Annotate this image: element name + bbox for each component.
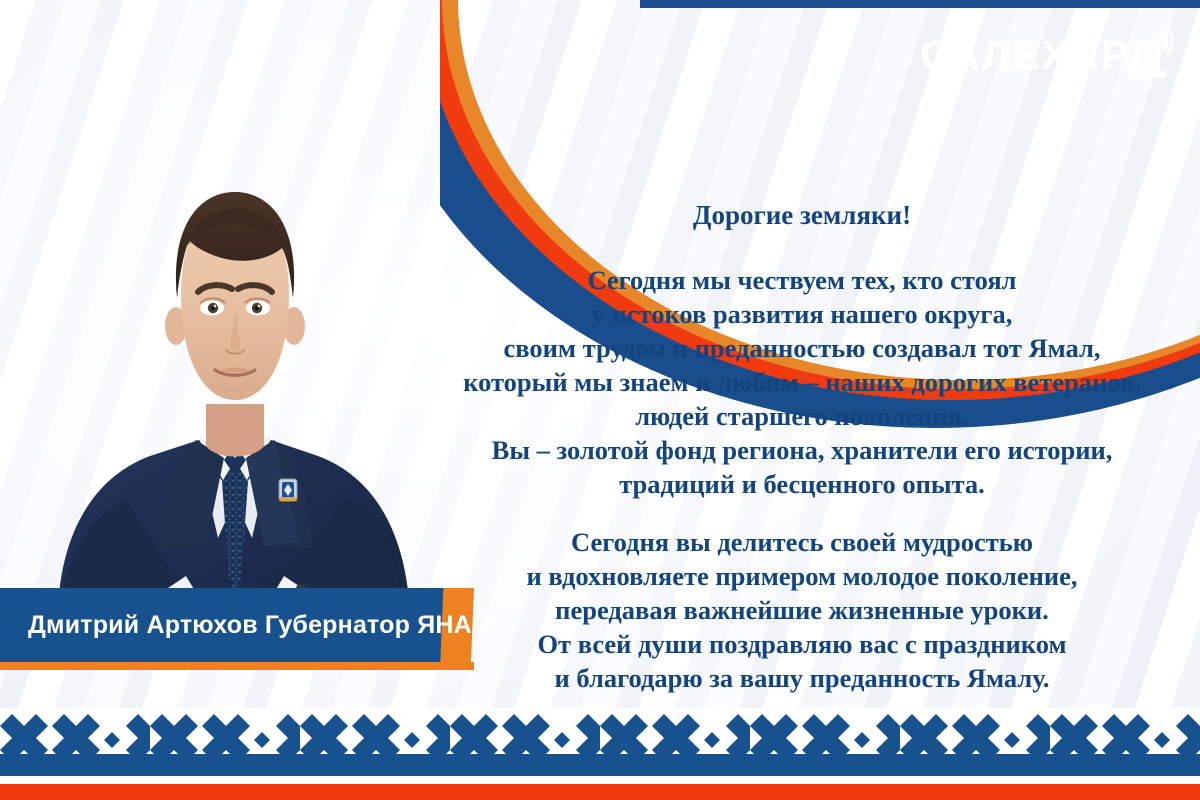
message-line: своим трудом и преданностью создавал тот…: [412, 331, 1192, 365]
name-banner: Дмитрий Артюхов Губернатор ЯНАО: [0, 588, 492, 670]
message-line: людей старшего поколения.: [412, 399, 1192, 433]
logo-wordmark: САЛЕХАРД: [920, 35, 1158, 76]
message-line: и благодарю за вашу преданность Ямалу.: [412, 661, 1192, 695]
message-paragraph-2: Сегодня вы делитесь своей мудростью и вд…: [412, 525, 1192, 695]
salekhard-logo[interactable]: САЛЕХАРД: [920, 26, 1174, 76]
greeting-message: Дорогие земляки! Сегодня мы чествуем тех…: [412, 198, 1192, 695]
message-line: Сегодня вы делитесь своей мудростью: [412, 525, 1192, 559]
governor-name-title: Дмитрий Артюхов Губернатор ЯНАО: [28, 588, 491, 662]
message-line: у истоков развития нашего округа,: [412, 297, 1192, 331]
message-greeting: Дорогие земляки!: [412, 198, 1192, 233]
message-line: традиций и бесценного опыта.: [412, 467, 1192, 501]
nenets-ornament-pattern: [0, 708, 1200, 770]
message-line: От всей души поздравляю вас с праздником: [412, 627, 1192, 661]
message-line: Вы – золотой фонд региона, хранители его…: [412, 433, 1192, 467]
message-line: передавая важнейшие жизненные уроки.: [412, 593, 1192, 627]
ornament-solid-bar: [0, 762, 1200, 776]
message-line: который мы знаем и любим – наших дорогих…: [412, 365, 1192, 399]
greeting-poster: САЛЕХАРД: [0, 0, 1200, 800]
top-edge-bar: [640, 0, 1200, 8]
message-line: Сегодня мы чествуем тех, кто стоял: [412, 263, 1192, 297]
name-banner-underline: [0, 662, 474, 670]
ornament-red-bar: [0, 784, 1200, 800]
paragraph-spacer: [412, 501, 1192, 525]
broadcast-antenna-icon: [1128, 26, 1174, 78]
governor-portrait: [0, 108, 470, 668]
bottom-ornament-band: [0, 700, 1200, 800]
message-paragraph-1: Сегодня мы чествуем тех, кто стоял у ист…: [412, 263, 1192, 501]
message-line: и вдохновляете примером молодое поколени…: [412, 559, 1192, 593]
ornament-white-gap: [0, 776, 1200, 784]
